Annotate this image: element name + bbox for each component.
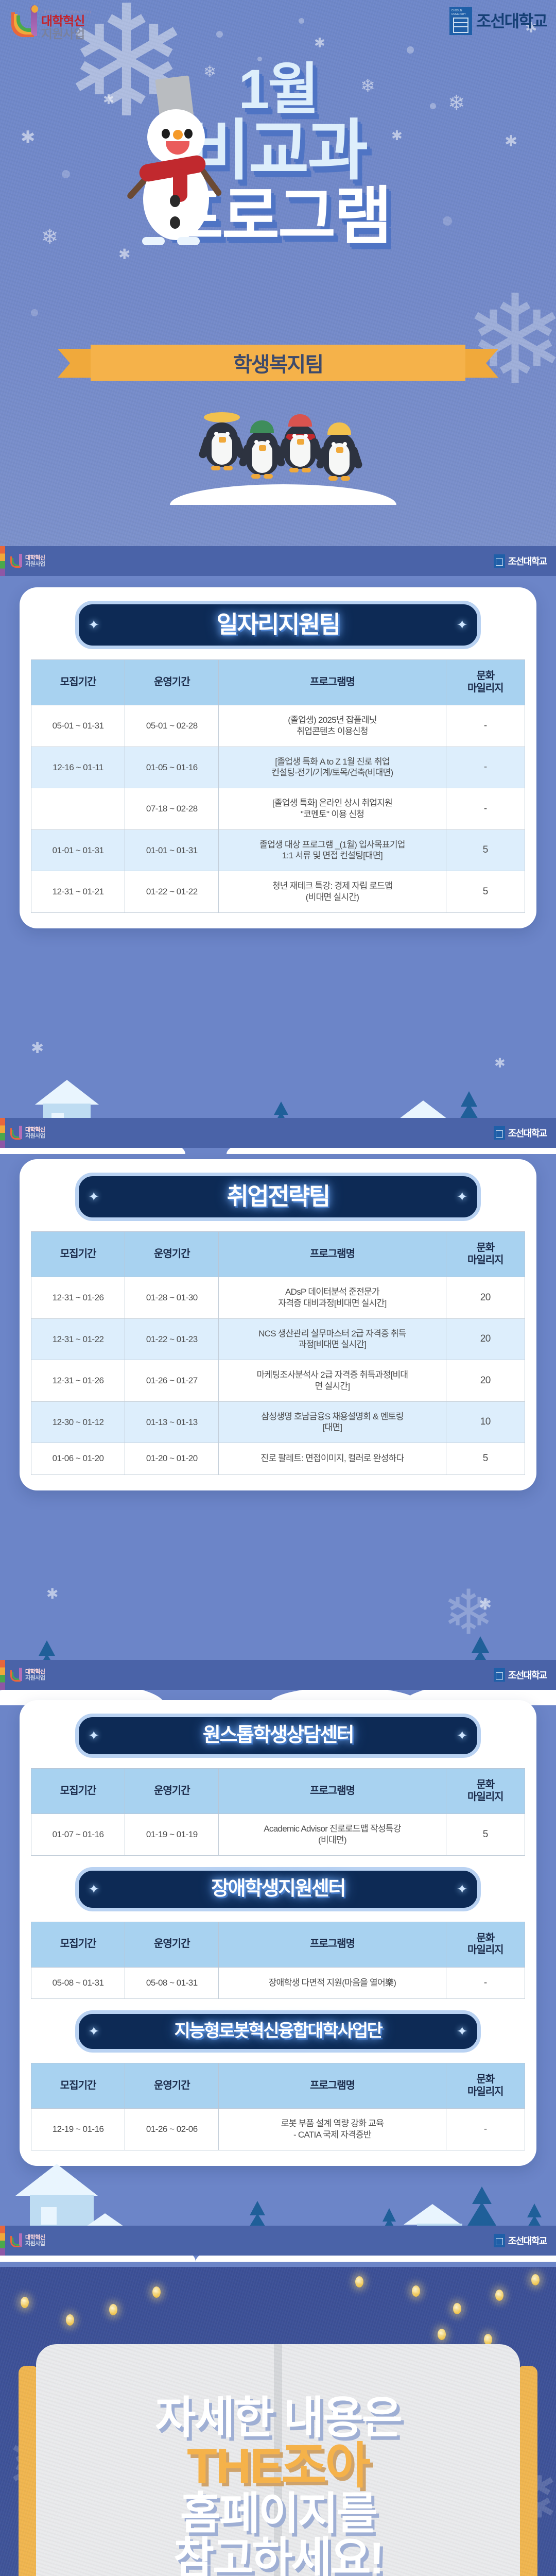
table-row: 12-31 ~ 01-22 01-22 ~ 01-23 NCS 생산관리 실무마… [31,1318,525,1360]
topbar-univ-innovation-logo: 대학혁신 지원사업 [9,553,45,569]
cell-program: [졸업생 특화] 온라인 상시 취업지원"코멘토" 이용 신청 [219,788,446,830]
cell-mileage: 5 [446,1814,525,1856]
table-row: 07-18 ~ 02-28 [졸업생 특화] 온라인 상시 취업지원"코멘토" … [31,788,525,830]
section-title-employment-strategy: ✦ 취업전략팀 ✦ [75,1173,480,1221]
cell-operate: 01-05 ~ 01-16 [125,747,219,788]
cell-recruit: 12-16 ~ 01-11 [31,747,125,788]
footer-line-3: 홈페이지를 [0,2492,556,2537]
cell-operate: 05-08 ~ 01-31 [125,1967,219,1998]
chosun-mark-icon [494,2234,505,2247]
section-title-label: 일자리지원팀 [217,611,340,638]
color-stripe [0,1118,5,1148]
topbar-chosun-name: 조선대학교 [508,1126,547,1140]
cell-program: 진로 팔레트: 면접이미지, 컬러로 완성하다 [219,1443,446,1475]
table-row: 12-31 ~ 01-21 01-22 ~ 01-22 청년 재테크 특강: 경… [31,871,525,913]
star-icon: ✦ [88,617,99,633]
poster-root: ❄ ❄ ✱ ❄ ✱ ❄ ✱ ❄ ✱ ✱ ❄ ✱ ✱ ✱ ✱ [0,0,556,2576]
hero-title-line3: 프로그램 [0,186,556,248]
cell-mileage: - [446,788,525,830]
topbar-logo-kr1: 대학혁신 [25,1127,45,1133]
cell-mileage: 20 [446,1360,525,1402]
table-row: 01-07 ~ 01-16 01-19 ~ 01-19 Academic Adv… [31,1814,525,1856]
cell-program: NCS 생산관리 실무마스터 2급 자격증 취득과정[비대면 실시간] [219,1318,446,1360]
penguin-icon [206,422,238,467]
topbar-logo-kr1: 대학혁신 [25,1669,45,1675]
logo-kr-line2: 지원사업 [41,28,91,41]
cell-mileage: - [446,1967,525,1998]
logo-kr-line1: 대학혁신 [41,15,91,28]
section-centers: ✦ 원스톱학생상담센터 ✦ 모집기간 운영기간 프로그램명 문화마일리지 [0,1700,556,2166]
cell-recruit: 12-31 ~ 01-26 [31,1277,125,1319]
hero-title-line1: 1월 [0,62,556,116]
cell-program: Academic Advisor 진로로드맵 작성특강(비대면) [219,1814,446,1856]
penguin-group [0,392,556,505]
col-culture-mileage: 문화마일리지 [446,660,525,705]
topbar-univ-innovation-logo: 대학혁신 지원사업 [9,2233,45,2248]
table-header-row: 모집기간 운영기간 프로그램명 문화마일리지 [31,1232,525,1277]
cell-recruit: 12-31 ~ 01-21 [31,871,125,913]
col-program-name: 프로그램명 [219,660,446,705]
col-operate-period: 운영기간 [125,660,219,705]
table-header-row: 모집기간 운영기간 프로그램명 문화마일리지 [31,1769,525,1814]
hero-section: ❄ ❄ ✱ ❄ ✱ ❄ ✱ ❄ ✱ ✱ ❄ ✱ ✱ ✱ ✱ [0,0,556,546]
cell-recruit: 12-31 ~ 01-22 [31,1318,125,1360]
ribbon-tail-left [58,349,94,378]
topbar-chosun-name: 조선대학교 [508,1668,547,1682]
cell-recruit: 05-01 ~ 01-31 [31,705,125,747]
section-title-jobsupport: ✦ 일자리지원팀 ✦ [75,601,480,649]
table-header-row: 모집기간 운영기간 프로그램명 문화마일리지 [31,660,525,705]
table-header-row: 모집기간 운영기간 프로그램명 문화마일리지 [31,1922,525,1967]
cell-program: 마케팅조사분석사 2급 자격증 취득과정[비대면 실시간] [219,1360,446,1402]
topbar-logo-kr1: 대학혁신 [25,2234,45,2241]
topbar-logo-kr2: 지원사업 [25,1675,45,1681]
table-header-row: 모집기간 운영기간 프로그램명 문화마일리지 [31,2063,525,2109]
chosun-name: 조선대학교 [476,13,547,29]
chosun-university-logo: CHOSUN UNIVERSITY 조선대학교 [449,7,547,35]
section-employment-strategy: ✦ 취업전략팀 ✦ 모집기간 운영기간 프로그램명 문화마일리지 [0,1159,556,1490]
topbar-chosun-logo: 조선대학교 [494,1668,547,1682]
col-operate-period: 운영기간 [125,1769,219,1814]
cell-operate: 01-22 ~ 01-23 [125,1318,219,1360]
col-recruit-period: 모집기간 [31,1922,125,1967]
card-employment-strategy: ✦ 취업전략팀 ✦ 모집기간 운영기간 프로그램명 문화마일리지 [20,1159,536,1490]
program-table-employment-strategy: 모집기간 운영기간 프로그램명 문화마일리지 12-31 ~ 01-26 01-… [31,1231,525,1475]
chosun-mark-icon [494,554,505,568]
cell-operate: 01-19 ~ 01-19 [125,1814,219,1856]
cell-program: ADsP 데이터분석 준전문가자격증 대비과정[비대면 실시간] [219,1277,446,1319]
chosun-mark-icon [494,1126,505,1140]
section-title-onestop: ✦ 원스톱학생상담센터 ✦ [75,1714,480,1758]
cell-recruit: 01-06 ~ 01-20 [31,1443,125,1475]
penguin-icon [284,425,316,469]
cell-mileage: 20 [446,1277,525,1319]
section-topbar: 대학혁신 지원사업 조선대학교 [0,546,556,576]
program-table-disability-support: 모집기간 운영기간 프로그램명 문화마일리지 05-08 ~ 01-31 05-… [31,1922,525,1999]
col-recruit-period: 모집기간 [31,1769,125,1814]
cell-mileage: 5 [446,871,525,913]
cell-recruit: 01-07 ~ 01-16 [31,1814,125,1856]
department-ribbon: 학생복지팀 [0,337,556,381]
table-row: 12-31 ~ 01-26 01-26 ~ 01-27 마케팅조사분석사 2급 … [31,1360,525,1402]
ribbon-tail-right [462,349,498,378]
cell-mileage: 10 [446,1401,525,1443]
ribbon-label: 학생복지팀 [233,348,323,378]
penguin-icon [323,433,355,477]
table-row: 12-31 ~ 01-26 01-28 ~ 01-30 ADsP 데이터분석 준… [31,1277,525,1319]
logo-en-text: University Innovation [41,9,91,15]
chosun-mark-caption: CHOSUN UNIVERSITY [451,9,472,16]
cell-program: (졸업생) 2025년 잡플래닛취업콘텐츠 이용신청 [219,705,446,747]
table-row: 05-01 ~ 01-31 05-01 ~ 02-28 (졸업생) 2025년 … [31,705,525,747]
star-icon: ✦ [457,617,468,633]
star-icon: ✦ [88,1881,99,1897]
table-row: 01-01 ~ 01-31 01-01 ~ 01-31 졸업생 대상 프로그램 … [31,829,525,871]
col-culture-mileage: 문화마일리지 [446,1769,525,1814]
cell-recruit: 12-30 ~ 01-12 [31,1401,125,1443]
col-operate-period: 운영기간 [125,1922,219,1967]
chosun-mark-icon [494,1668,505,1682]
section-title-robot-college: ✦ 지능형로봇혁신융합대학사업단 ✦ [75,2010,480,2053]
section-title-label: 장애학생지원센터 [211,1878,345,1900]
univ-innovation-mark-icon [9,2233,23,2248]
topbar-chosun-name: 조선대학교 [508,554,547,568]
cell-operate: 01-01 ~ 01-31 [125,829,219,871]
section-jobsupport: ✦ 일자리지원팀 ✦ 모집기간 운영기간 프로그램명 문화마일리지 [0,587,556,928]
topbar-chosun-logo: 조선대학교 [494,2234,547,2247]
section-title-label: 원스톱학생상담센터 [203,1724,353,1746]
section-title-disability-support: ✦ 장애학생지원센터 ✦ [75,1867,480,1911]
topbar-chosun-logo: 조선대학교 [494,1126,547,1140]
topbar-chosun-name: 조선대학교 [508,2234,547,2247]
snowflake-icon: ✱ [31,1041,44,1056]
cell-program: [졸업생 특화 A to Z 1월 진로 취업컨설팅-전기/기계/토목/건축(비… [219,747,446,788]
star-icon: ✦ [457,1881,468,1897]
ribbon-plate: 학생복지팀 [91,345,465,381]
univ-innovation-mark-icon [9,7,38,39]
cell-program: 삼성생명 호남금융S 채용설명회 & 멘토링[대면] [219,1401,446,1443]
penguin-icon [246,431,278,475]
snowflake-icon: ✱ [314,36,325,49]
cell-operate: 01-13 ~ 01-13 [125,1401,219,1443]
hero-title-line2: 비교과 [0,118,556,183]
cell-program: 청년 재테크 특강: 경제 자립 로드맵(비대면 실시간) [219,871,446,913]
table-row: 12-16 ~ 01-11 01-05 ~ 01-16 [졸업생 특화 A to… [31,747,525,788]
univ-innovation-mark-icon [9,553,23,569]
string-lights-icon [0,2267,556,2344]
topbar-logo-kr1: 대학혁신 [25,555,45,561]
cell-operate: 05-01 ~ 02-28 [125,705,219,747]
star-icon: ✦ [457,2024,468,2040]
section-title-label: 취업전략팀 [227,1183,329,1210]
chosun-mark-icon: CHOSUN UNIVERSITY [449,7,472,35]
col-culture-mileage: 문화마일리지 [446,1922,525,1967]
color-stripe [0,2226,5,2256]
cell-mileage: - [446,705,525,747]
col-program-name: 프로그램명 [219,1922,446,1967]
col-program-name: 프로그램명 [219,2063,446,2109]
star-icon: ✦ [88,2024,99,2040]
program-table-jobsupport: 모집기간 운영기간 프로그램명 문화마일리지 05-01 ~ 01-31 05-… [31,659,525,913]
footer-line-4: 참고하세요! [0,2536,556,2576]
star-icon: ✦ [88,1189,99,1205]
cell-recruit [31,788,125,830]
university-innovation-logo: University Innovation 대학혁신 지원사업 [9,7,91,41]
snowman-icon [128,77,231,247]
univ-innovation-mark-icon [9,1125,23,1141]
footer-line-2-brand: THE조아 [0,2441,556,2492]
col-culture-mileage: 문화마일리지 [446,1232,525,1277]
footer-headline: 자세한 내용은 THE조아 홈페이지를 참고하세요! [0,2396,556,2576]
col-recruit-period: 모집기간 [31,2063,125,2109]
col-recruit-period: 모집기간 [31,1232,125,1277]
col-program-name: 프로그램명 [219,1769,446,1814]
table-row: 12-30 ~ 01-12 01-13 ~ 01-13 삼성생명 호남금융S 채… [31,1401,525,1443]
section-topbar: 대학혁신 지원사업 조선대학교 [0,1118,556,1148]
cell-program: 졸업생 대상 프로그램 _(1월) 입사목표기업1:1 서류 및 면접 컨설팅[… [219,829,446,871]
col-program-name: 프로그램명 [219,1232,446,1277]
cell-operate: 07-18 ~ 02-28 [125,788,219,830]
cell-recruit: 01-01 ~ 01-31 [31,829,125,871]
topbar-logo-kr2: 지원사업 [25,2241,45,2247]
cell-mileage: 20 [446,1318,525,1360]
col-culture-mileage: 문화마일리지 [446,2063,525,2109]
col-operate-period: 운영기간 [125,2063,219,2109]
hero-title: 1월 비교과 프로그램 [0,62,556,248]
table-row: 01-06 ~ 01-20 01-20 ~ 01-20 진로 팔레트: 면접이미… [31,1443,525,1475]
cell-operate: 01-28 ~ 01-30 [125,1277,219,1319]
card-jobsupport: ✦ 일자리지원팀 ✦ 모집기간 운영기간 프로그램명 문화마일리지 [20,587,536,928]
cell-mileage: 5 [446,1443,525,1475]
snowflake-icon: ✱ [46,1587,58,1601]
col-recruit-period: 모집기간 [31,660,125,705]
cell-recruit: 05-08 ~ 01-31 [31,1967,125,1998]
cell-operate: 01-22 ~ 01-22 [125,871,219,913]
univ-innovation-mark-icon [9,1667,23,1683]
topbar-univ-innovation-logo: 대학혁신 지원사업 [9,1125,45,1141]
star-icon: ✦ [457,1728,468,1744]
star-icon: ✦ [457,1189,468,1205]
program-table-onestop: 모집기간 운영기간 프로그램명 문화마일리지 01-07 ~ 01-16 01-… [31,1768,525,1856]
topbar-logo-kr2: 지원사업 [25,1133,45,1139]
section-title-label: 지능형로봇혁신융합대학사업단 [175,2021,382,2041]
section-topbar: 대학혁신 지원사업 조선대학교 [0,1660,556,1690]
footer-section: ❄ ❄ 자세한 내용은 THE조아 홈페이지를 참고하세요! https://t… [0,2267,556,2576]
cell-mileage: 5 [446,829,525,871]
topbar-logo-kr2: 지원사업 [25,561,45,567]
cell-operate: 01-20 ~ 01-20 [125,1443,219,1475]
color-stripe [0,1660,5,1690]
color-stripe [0,546,5,576]
star-icon: ✦ [88,1728,99,1744]
cell-program: 장애학생 다면적 지원(마음을 열어樂) [219,1967,446,1998]
snowflake-icon: ✱ [494,1056,506,1070]
topbar-chosun-logo: 조선대학교 [494,554,547,568]
footer-line-1: 자세한 내용은 [0,2396,556,2441]
snowflake-icon: ✱ [118,247,130,262]
card-centers: ✦ 원스톱학생상담센터 ✦ 모집기간 운영기간 프로그램명 문화마일리지 [20,1700,536,2166]
section-topbar: 대학혁신 지원사업 조선대학교 [0,2226,556,2256]
topbar-univ-innovation-logo: 대학혁신 지원사업 [9,1667,45,1683]
cell-mileage: - [446,747,525,788]
col-operate-period: 운영기간 [125,1232,219,1277]
cell-operate: 01-26 ~ 01-27 [125,1360,219,1402]
cell-recruit: 12-31 ~ 01-26 [31,1360,125,1402]
table-row: 05-08 ~ 01-31 05-08 ~ 01-31 장애학생 다면적 지원(… [31,1967,525,1998]
